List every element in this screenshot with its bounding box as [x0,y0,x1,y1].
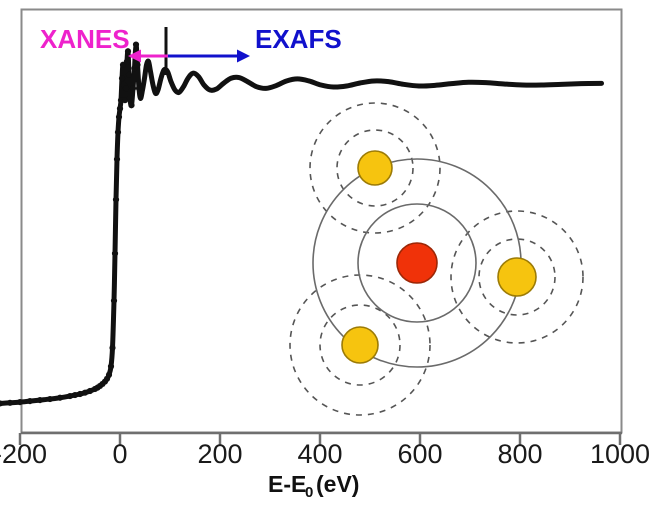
spectrum-data-point [109,345,115,351]
xanes-region-label: XANES [40,24,130,54]
spectrum-data-point [127,95,133,101]
scattering-atom-right [498,258,536,296]
spectrum-data-point [134,62,140,68]
spectrum-data-point [128,102,134,108]
spectrum-data-point [113,196,119,202]
x-axis-title-unit: (eV) [316,471,359,497]
absorbing-atom [397,243,437,283]
spectrum-data-point [57,395,63,401]
spectrum-data-point [124,58,130,64]
x-axis-title-subscript: 0 [305,484,313,501]
xas-spectrum-figure: XANES EXAFS -20002004006008001000 E-E 0 … [0,0,664,510]
x-axis-tick-label: 400 [297,439,342,469]
spectrum-data-point [37,397,43,403]
spectrum-data-point [115,129,121,135]
spectrum-data-point [123,85,129,91]
spectrum-data-point [130,85,136,91]
x-axis-tick-label: -200 [0,439,47,469]
exafs-region-label: EXAFS [255,24,342,54]
spectrum-data-point [47,396,53,402]
spectrum-data-point [119,75,125,81]
x-axis-title: E-E 0 (eV) [268,471,359,501]
spectrum-data-point [133,41,139,47]
spectrum-data-point [114,156,120,162]
x-axis: -20002004006008001000 [0,433,650,469]
x-axis-tick-label: 1000 [590,439,650,469]
spectrum-data-point [7,400,13,406]
x-axis-tick-label: 200 [197,439,242,469]
spectrum-data-point [112,250,118,256]
spectrum-data-point [106,372,112,378]
spectrum-data-point [111,298,117,304]
x-axis-tick-label: 0 [112,439,127,469]
spectrum-data-point [136,85,142,91]
figure-canvas: XANES EXAFS -20002004006008001000 E-E 0 … [0,0,664,510]
scattering-atom-top [358,151,392,185]
spectrum-data-point [27,398,33,404]
scattering-atom-bottom-left [342,327,378,363]
spectrum-data-point [17,399,23,405]
spectrum-data-point [117,105,123,111]
spectrum-data-point [116,114,122,120]
x-axis-title-main: E-E [268,471,306,497]
spectrum-data-point [126,72,132,78]
spectrum-data-point [108,363,114,369]
x-axis-tick-label: 600 [397,439,442,469]
x-axis-tick-label: 800 [497,439,542,469]
